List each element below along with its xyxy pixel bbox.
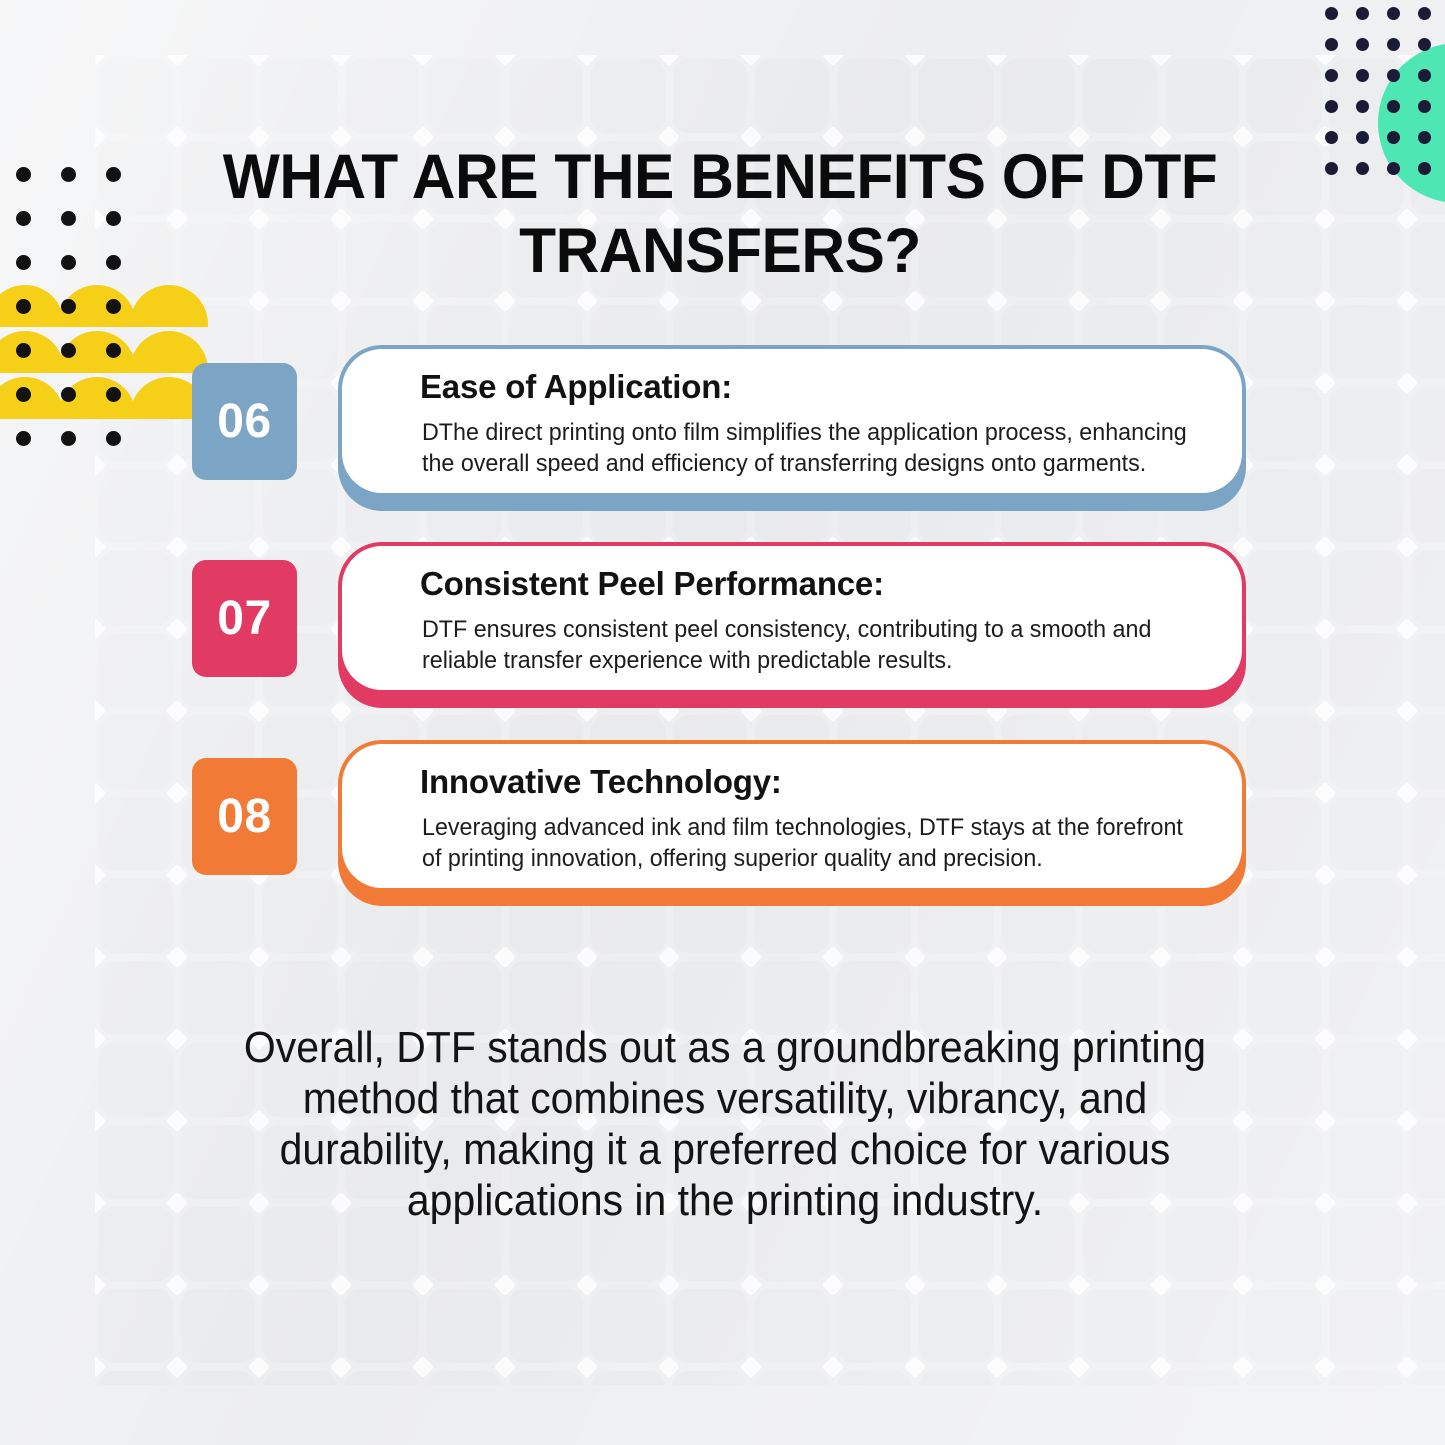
grid-tile (509, 1371, 583, 1385)
card-surface: Ease of Application: DThe direct printin… (338, 345, 1246, 497)
grid-tile (837, 59, 911, 133)
grid-tile (1165, 1289, 1239, 1363)
grid-tile (1329, 223, 1403, 297)
dot-decoration (1387, 7, 1400, 20)
card-number-badge: 07 (192, 560, 297, 677)
grid-tile (345, 1371, 419, 1385)
grid-tile (1247, 1289, 1321, 1363)
closing-paragraph: Overall, DTF stands out as a groundbreak… (223, 1022, 1227, 1226)
grid-tile (755, 1289, 829, 1363)
dot-decoration (1387, 131, 1400, 144)
grid-tile (263, 59, 337, 133)
card-number-badge: 06 (192, 363, 297, 480)
grid-tile (919, 1371, 993, 1385)
grid-tile (755, 1371, 829, 1385)
grid-tile (1247, 1043, 1321, 1117)
page-title-line-1: WHAT ARE THE BENEFITS OF DTF (223, 142, 1218, 212)
dot-decoration (61, 167, 76, 182)
grid-tile (1247, 59, 1321, 133)
grid-tile (509, 59, 583, 133)
grid-tile (1165, 1371, 1239, 1385)
dot-decoration (106, 211, 121, 226)
dot-decoration (1418, 38, 1431, 51)
dot-decoration (1356, 100, 1369, 113)
grid-tile (1247, 1207, 1321, 1281)
dot-decoration (1356, 131, 1369, 144)
grid-tile (1083, 59, 1157, 133)
dot-decoration (16, 299, 31, 314)
grid-tile (99, 1289, 173, 1363)
grid-tile (837, 1371, 911, 1385)
grid-tile (99, 1125, 173, 1199)
grid-tile (1329, 1207, 1403, 1281)
dot-decoration (1418, 131, 1431, 144)
dot-decoration (1325, 38, 1338, 51)
grid-tile (1411, 1043, 1445, 1117)
dot-decoration (1356, 162, 1369, 175)
grid-tile (755, 59, 829, 133)
grid-tile (1329, 1371, 1403, 1385)
dot-decoration (61, 299, 76, 314)
dot-decoration (1325, 100, 1338, 113)
grid-tile (99, 1207, 173, 1281)
grid-tile (1165, 59, 1239, 133)
dot-decoration (16, 211, 31, 226)
card-body-text: DTF ensures consistent peel consistency,… (422, 614, 1208, 676)
grid-tile (1411, 1125, 1445, 1199)
grid-tile (591, 1289, 665, 1363)
grid-tile (427, 59, 501, 133)
dot-decoration (61, 255, 76, 270)
dot-decoration (106, 299, 121, 314)
grid-tile (263, 1371, 337, 1385)
grid-tile (99, 961, 173, 1035)
dot-decoration (1325, 69, 1338, 82)
card-number-label: 08 (217, 789, 271, 844)
card-number-label: 07 (217, 591, 271, 646)
dot-decoration (61, 211, 76, 226)
dot-decoration (1387, 162, 1400, 175)
grid-tile (673, 1289, 747, 1363)
grid-tile (181, 59, 255, 133)
grid-tile (1001, 1289, 1075, 1363)
grid-tile (1329, 961, 1403, 1035)
benefit-card-08[interactable]: Innovative Technology: Leveraging advanc… (0, 740, 1445, 920)
card-surface: Innovative Technology: Leveraging advanc… (338, 740, 1246, 892)
dot-decoration (16, 167, 31, 182)
dot-decoration (1387, 100, 1400, 113)
grid-tile (1001, 59, 1075, 133)
dot-decoration (106, 167, 121, 182)
card-title: Consistent Peel Performance: (420, 565, 884, 603)
dot-decoration (1387, 69, 1400, 82)
grid-tile (673, 1371, 747, 1385)
grid-tile (1247, 1125, 1321, 1199)
grid-tile (1329, 1125, 1403, 1199)
infographic-canvas: WHAT ARE THE BENEFITS OF DTF TRANSFERS? … (0, 0, 1445, 1445)
grid-tile (1411, 961, 1445, 1035)
grid-tile (99, 1043, 173, 1117)
grid-tile (99, 59, 173, 133)
dot-decoration (1325, 131, 1338, 144)
dot-decoration (106, 255, 121, 270)
grid-tile (591, 59, 665, 133)
grid-tile (509, 1289, 583, 1363)
card-number-badge: 08 (192, 758, 297, 875)
grid-tile (263, 1289, 337, 1363)
grid-tile (1247, 961, 1321, 1035)
card-body-text: Leveraging advanced ink and film technol… (422, 812, 1208, 874)
dot-decoration (1418, 7, 1431, 20)
card-number-label: 06 (217, 394, 271, 449)
grid-tile (1001, 1371, 1075, 1385)
grid-tile (1247, 1371, 1321, 1385)
grid-tile (181, 1371, 255, 1385)
page-title: WHAT ARE THE BENEFITS OF DTF TRANSFERS? (173, 140, 1267, 288)
grid-tile (181, 1289, 255, 1363)
benefit-card-06[interactable]: Ease of Application: DThe direct printin… (0, 345, 1445, 525)
grid-tile (1411, 1207, 1445, 1281)
grid-tile (99, 1371, 173, 1385)
grid-tile (919, 59, 993, 133)
card-title: Ease of Application: (420, 368, 732, 406)
grid-tile (837, 1289, 911, 1363)
dot-decoration (1356, 69, 1369, 82)
grid-tile (1411, 1289, 1445, 1363)
grid-tile (919, 1289, 993, 1363)
yellow-dome-decoration (0, 285, 64, 327)
dot-decoration (1418, 162, 1431, 175)
grid-tile (427, 1371, 501, 1385)
dot-decoration (16, 255, 31, 270)
dot-decoration (1325, 162, 1338, 175)
grid-tile (1083, 1289, 1157, 1363)
grid-tile (673, 59, 747, 133)
benefit-card-07[interactable]: Consistent Peel Performance: DTF ensures… (0, 542, 1445, 722)
grid-tile (1411, 1371, 1445, 1385)
grid-tile (1083, 1371, 1157, 1385)
grid-tile (1411, 223, 1445, 297)
grid-tile (345, 1289, 419, 1363)
dot-decoration (1387, 38, 1400, 51)
grid-tile (591, 1371, 665, 1385)
grid-tile (427, 1289, 501, 1363)
dot-decoration (1418, 100, 1431, 113)
dot-decoration (1356, 7, 1369, 20)
grid-tile (1329, 1043, 1403, 1117)
dot-decoration (1418, 69, 1431, 82)
dot-decoration (1356, 38, 1369, 51)
card-surface: Consistent Peel Performance: DTF ensures… (338, 542, 1246, 694)
grid-tile (345, 59, 419, 133)
page-title-line-2: TRANSFERS? (519, 216, 921, 286)
card-body-text: DThe direct printing onto film simplifie… (422, 417, 1208, 479)
grid-tile (1329, 1289, 1403, 1363)
dot-decoration (1325, 7, 1338, 20)
card-title: Innovative Technology: (420, 763, 782, 801)
